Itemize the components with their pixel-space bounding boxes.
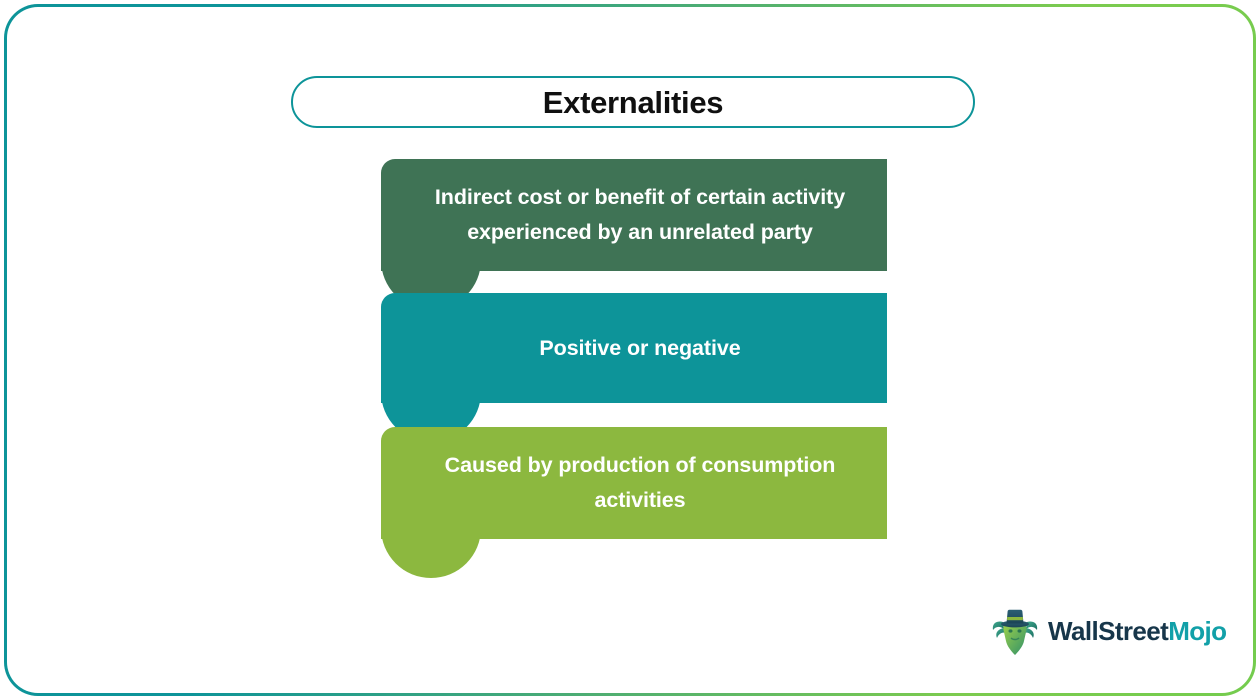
list-item-bar: Positive or negative xyxy=(381,293,887,403)
page-canvas: Externalities Indirect cost or benefit o… xyxy=(7,7,1253,693)
bull-mascot-top-hat-icon xyxy=(989,605,1041,657)
wallstreetmojo-logo: WallStreetMojo xyxy=(989,605,1226,657)
logo-wordmark: WallStreetMojo xyxy=(1048,618,1226,644)
list-item-label: Positive or negative xyxy=(399,331,869,366)
list-item-bar: Caused by production of consumption acti… xyxy=(381,427,887,539)
list-item-bar: Indirect cost or benefit of certain acti… xyxy=(381,159,887,271)
list-item-label: Indirect cost or benefit of certain acti… xyxy=(399,180,869,250)
list-item-number: 02 xyxy=(381,678,481,693)
logo-word-primary: WallStreet xyxy=(1048,616,1168,646)
externalities-list: Indirect cost or benefit of certain acti… xyxy=(7,7,1253,693)
list-item-label: Caused by production of consumption acti… xyxy=(399,448,869,518)
page-frame: Externalities Indirect cost or benefit o… xyxy=(4,4,1256,696)
logo-word-secondary: Mojo xyxy=(1168,616,1226,646)
